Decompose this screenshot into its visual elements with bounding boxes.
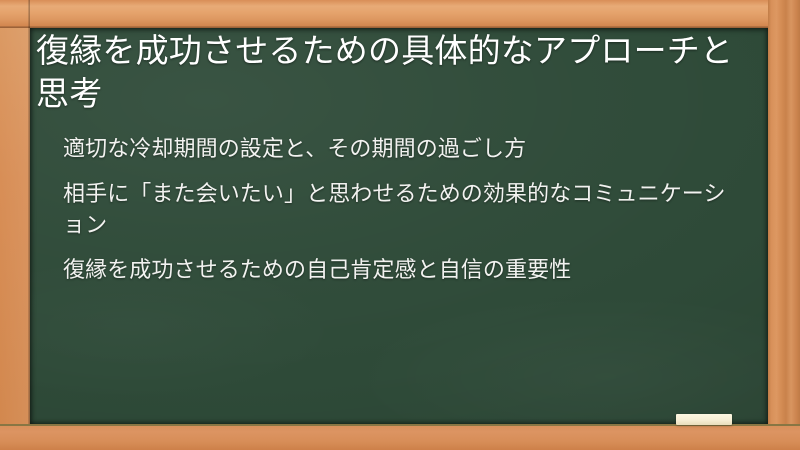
frame-bottom-ledge [0,424,800,450]
chalkboard-slide: 復縁を成功させるための具体的なアプローチと思考 適切な冷却期間の設定と、その期間… [0,0,800,450]
frame-left-rail [0,0,30,450]
slide-content: 復縁を成功させるための具体的なアプローチと思考 適切な冷却期間の設定と、その期間… [30,28,768,424]
list-item: 相手に「また会いたい」と思わせるための効果的なコミュニケーション [63,178,735,240]
frame-top-rail [0,0,800,28]
list-item: 復縁を成功させるための自己肯定感と自信の重要性 [63,254,735,285]
frame-right-rail [768,0,800,450]
page-title: 復縁を成功させるための具体的なアプローチと思考 [33,30,736,116]
bullet-list: 適切な冷却期間の設定と、その期間の過ごし方 相手に「また会いたい」と思わせるため… [33,133,750,286]
list-item: 適切な冷却期間の設定と、その期間の過ごし方 [63,133,735,164]
chalk-stick-icon [676,414,732,425]
chalkboard-surface: 復縁を成功させるための具体的なアプローチと思考 適切な冷却期間の設定と、その期間… [30,28,768,424]
